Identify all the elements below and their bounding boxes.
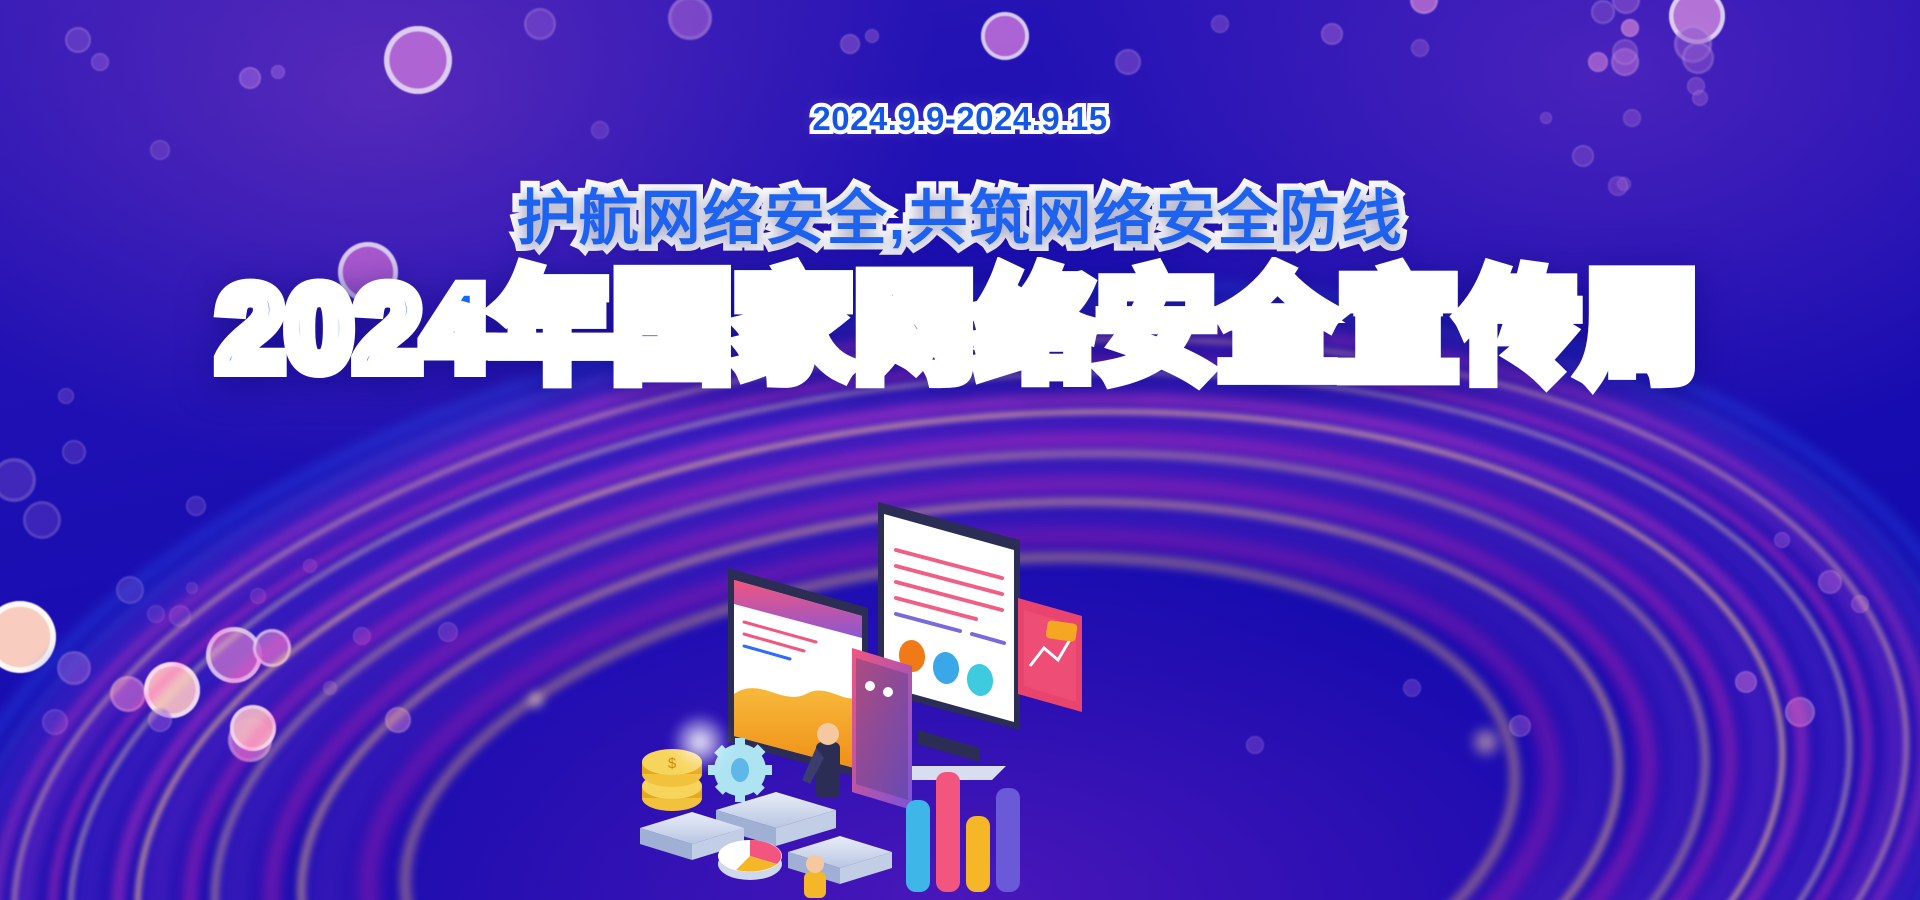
bokeh-circle	[62, 440, 86, 464]
bokeh-circle	[253, 629, 291, 667]
bar-chart	[906, 772, 1020, 892]
bokeh-circle	[981, 12, 1029, 60]
isometric-illustration: $	[620, 480, 1140, 900]
page-title: 2024年国家网络安全宣传周	[218, 263, 1703, 395]
bokeh-circle	[91, 53, 109, 71]
bokeh-circle	[239, 67, 261, 89]
glow-dot	[1468, 724, 1504, 760]
bokeh-circle	[147, 605, 165, 623]
bokeh-circle	[1818, 570, 1842, 594]
card-chart	[1018, 598, 1082, 712]
phone-screen	[852, 648, 912, 810]
bokeh-circle	[110, 676, 146, 712]
bokeh-circle	[865, 29, 879, 43]
bokeh-circle	[1411, 39, 1429, 57]
bokeh-circle	[1115, 49, 1141, 75]
bokeh-circle	[1785, 697, 1815, 727]
bokeh-circle	[116, 576, 144, 604]
bokeh-circle	[271, 65, 285, 79]
bokeh-circle	[148, 708, 172, 732]
date-range: 2024.9.9-2024.9.15	[812, 100, 1107, 137]
bokeh-circle	[1509, 715, 1531, 737]
bokeh-circle	[186, 582, 198, 594]
bokeh-circle	[65, 27, 91, 53]
bokeh-circle	[1410, 0, 1438, 14]
bokeh-circle	[23, 501, 61, 539]
bokeh-circle	[323, 681, 337, 695]
bokeh-circle	[42, 709, 68, 735]
bokeh-circle	[57, 651, 91, 685]
glow-dot	[526, 690, 546, 710]
bokeh-circle	[1682, 42, 1714, 74]
bokeh-circle	[0, 601, 56, 673]
bokeh-circle	[1735, 671, 1757, 693]
bokeh-circle	[524, 8, 556, 40]
bokeh-circle	[1588, 52, 1608, 72]
bokeh-circle	[1612, 0, 1640, 14]
pie-chart	[718, 840, 782, 880]
bokeh-circle	[150, 140, 170, 160]
subtitle-wrap: 护航网络安全,共筑网络安全防线	[0, 170, 1920, 257]
bokeh-circle	[1774, 532, 1790, 548]
bokeh-circle	[1572, 145, 1594, 167]
bokeh-circle	[384, 26, 452, 94]
date-range-wrap: 2024.9.9-2024.9.15	[0, 100, 1920, 138]
bokeh-circle	[385, 707, 411, 733]
bokeh-circle	[186, 496, 206, 516]
bokeh-circle	[1612, 39, 1638, 65]
bokeh-circle	[250, 588, 266, 604]
bokeh-circle	[1403, 679, 1421, 697]
bokeh-circle	[668, 0, 712, 40]
bokeh-circle	[1621, 19, 1639, 37]
bokeh-circle	[1591, 0, 1615, 24]
bokeh-circle	[169, 605, 191, 627]
poster-banner: $	[0, 0, 1920, 900]
bokeh-circle	[1321, 23, 1343, 45]
bokeh-circle	[1211, 15, 1229, 33]
glow-dot	[670, 712, 730, 772]
bokeh-circle	[303, 559, 317, 573]
bokeh-circle	[1246, 736, 1264, 754]
bokeh-circle	[438, 622, 458, 642]
poster-subtitle: 护航网络安全,共筑网络安全防线	[517, 185, 1404, 252]
bokeh-circle	[1851, 595, 1869, 613]
bokeh-circle	[840, 34, 860, 54]
main-title-wrap: 2024年国家网络安全宣传周	[0, 268, 1920, 392]
bokeh-circle	[0, 458, 36, 502]
bokeh-circle	[353, 627, 371, 645]
bokeh-circle	[230, 705, 276, 751]
